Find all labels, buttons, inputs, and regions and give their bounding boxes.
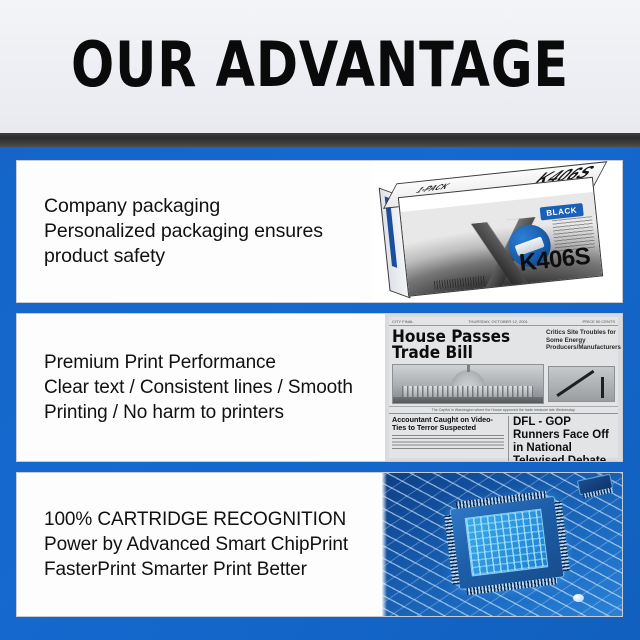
advantage-panel-packaging[interactable]: Company packaging Personalized packaging… <box>16 160 623 303</box>
panel-packaging-line-3: product safety <box>44 244 372 269</box>
newspaper-bottom-left-headline: Accountant Caught on Video-Ties to Terro… <box>392 416 504 433</box>
newspaper-column-stack <box>548 364 615 404</box>
newspaper-inner: CITY FINAL THURSDAY, OCTOBER 12, 2001 PR… <box>389 317 618 458</box>
panel-recognition-line-2: Power by Advanced Smart ChipPrint <box>44 532 382 557</box>
oil-derrick-photo <box>548 366 615 402</box>
panel-performance-line-2: Clear text / Consistent lines / Smooth <box>44 375 385 400</box>
newspaper-bottom-row: Accountant Caught on Video-Ties to Terro… <box>389 413 618 461</box>
newspaper-bottom-left-story: Accountant Caught on Video-Ties to Terro… <box>392 416 504 461</box>
page-title: OUR ADVANTAGE <box>58 34 583 96</box>
capitol-ground <box>393 397 543 403</box>
advantage-panels-stage: Company packaging Personalized packaging… <box>0 147 640 640</box>
panel-recognition-text-block: 100% CARTRIDGE RECOGNITION Power by Adva… <box>17 473 382 616</box>
microchip-die <box>465 508 548 576</box>
newspaper-subheadline: Critics Site Troubles for Some Energy Pr… <box>546 329 621 361</box>
toner-cartridge-box: 1-PACK K406S BLACK K406S <box>378 161 617 302</box>
toner-box-scene: 1-PACK K406S BLACK K406S <box>372 161 622 302</box>
microchip <box>449 495 564 589</box>
masthead-left: CITY FINAL <box>392 319 414 324</box>
newspaper-image: CITY FINAL THURSDAY, OCTOBER 12, 2001 PR… <box>385 314 622 461</box>
panel-performance-line-1: Premium Print Performance <box>44 350 385 375</box>
newspaper-main-headline: House Passes Trade Bill <box>392 329 532 361</box>
advantage-panel-cartridge-recognition[interactable]: 100% CARTRIDGE RECOGNITION Power by Adva… <box>16 472 623 617</box>
advantage-panel-print-performance[interactable]: Premium Print Performance Clear text / C… <box>16 313 623 462</box>
circuit-board-scene <box>382 473 622 616</box>
capitol-columns <box>402 386 534 397</box>
newspaper-bottom-left-body <box>392 435 504 449</box>
newspaper-body <box>389 362 618 406</box>
capitol-building-photo <box>392 364 544 404</box>
panel-recognition-line-1: 100% CARTRIDGE RECOGNITION <box>44 507 382 532</box>
masthead-center: THURSDAY, OCTOBER 12, 2001 <box>468 319 528 324</box>
solder-blob <box>573 594 584 602</box>
panel-packaging-line-1: Company packaging <box>44 194 372 219</box>
circuit-board-image <box>382 473 622 616</box>
panel-performance-text-block: Premium Print Performance Clear text / C… <box>17 314 385 461</box>
newspaper-page: CITY FINAL THURSDAY, OCTOBER 12, 2001 PR… <box>385 314 622 461</box>
newspaper-bottom-right-headline: DFL - GOP Runners Face Off in National T… <box>508 416 615 461</box>
panel-packaging-text-block: Company packaging Personalized packaging… <box>17 161 372 302</box>
masthead-right: PRICE 50 CENTS <box>583 319 615 324</box>
newspaper-headline-row: House Passes Trade Bill Critics Site Tro… <box>389 326 618 362</box>
panel-recognition-line-3: FasterPrint Smarter Print Better <box>44 557 382 582</box>
box-front-face: BLACK K406S <box>398 177 603 297</box>
panel-performance-line-3: Printing / No harm to printers <box>44 400 385 425</box>
panel-packaging-line-2: Personalized packaging ensures <box>44 219 372 244</box>
toner-box-image: 1-PACK K406S BLACK K406S <box>372 161 622 302</box>
header-divider-rule <box>0 133 640 147</box>
newspaper-photo-caption: The Capitol in Washington where the Hous… <box>389 406 618 413</box>
newspaper-masthead: CITY FINAL THURSDAY, OCTOBER 12, 2001 PR… <box>389 317 618 326</box>
circuit-board-edge-highlight <box>382 473 387 616</box>
page-header: OUR ADVANTAGE <box>0 0 640 133</box>
